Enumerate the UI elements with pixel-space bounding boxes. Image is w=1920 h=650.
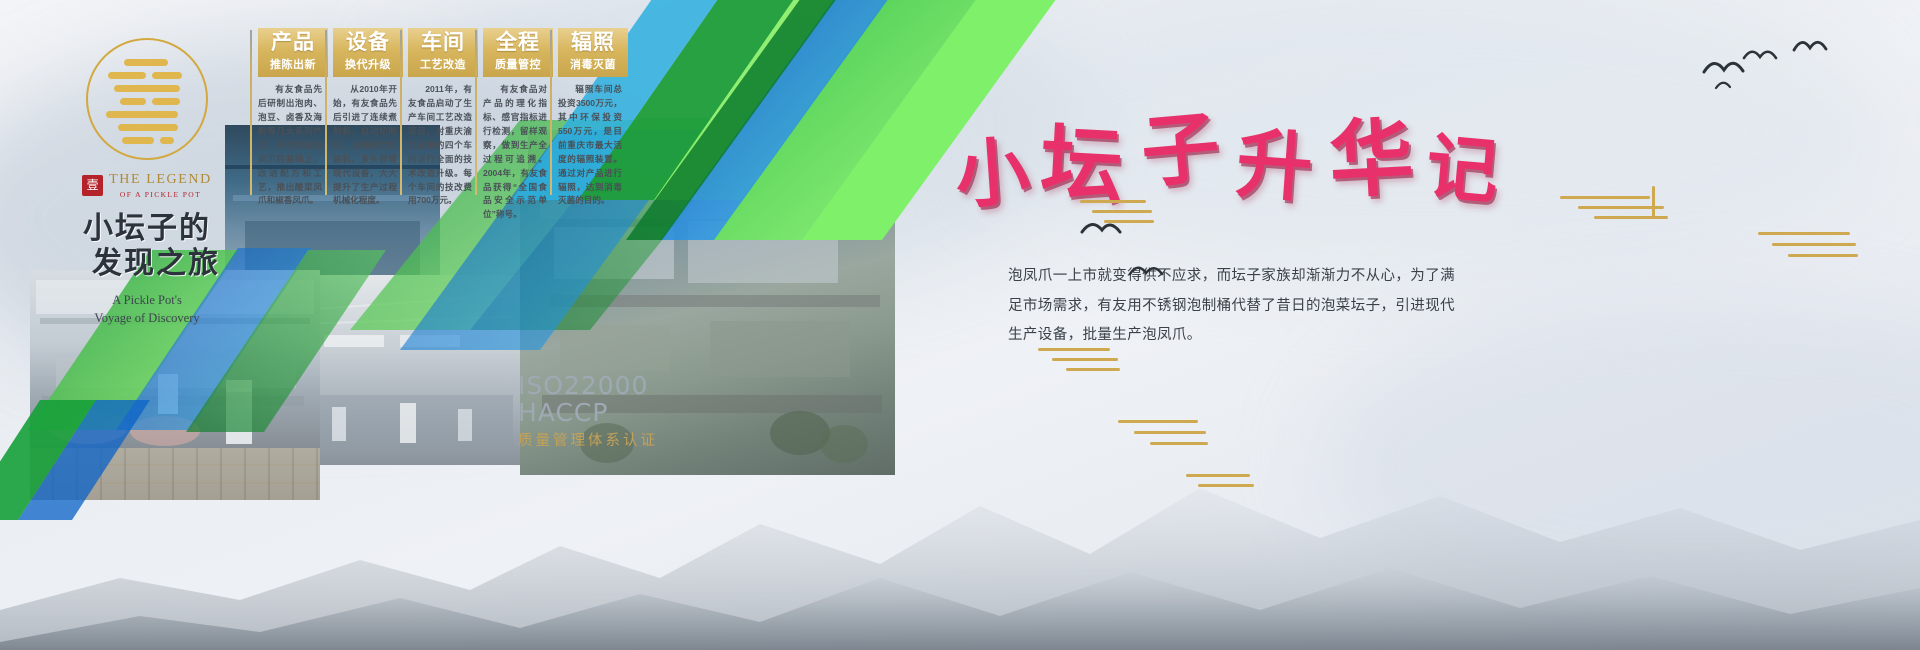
card-heading: 全程 bbox=[486, 32, 550, 54]
poster-canvas: 产品 推陈出新 有友食品先后研制出泡肉、泡豆、卤香及海鲜等几大系列产品，并在原有… bbox=[0, 0, 1920, 650]
card-header: 车间 工艺改造 bbox=[408, 28, 478, 77]
headline-char-4: 升 bbox=[1233, 101, 1316, 216]
pickle-pot-seal-icon bbox=[86, 38, 208, 160]
card-subheading: 工艺改造 bbox=[411, 56, 475, 72]
brand-cn-title: 小坛子的 发现之旅 bbox=[52, 211, 242, 282]
body-paragraph: 泡凤爪一上市就变得供不应求，而坛子家族却渐渐力不从心，为了满足市场需求，有友用不… bbox=[1008, 262, 1464, 351]
brand-en-subtitle-line1: A Pickle Pot's bbox=[52, 291, 242, 309]
card-header: 全程 质量管控 bbox=[483, 28, 553, 77]
card-divider-rule bbox=[550, 30, 552, 195]
info-card-product[interactable]: 产品 推陈出新 有友食品先后研制出泡肉、泡豆、卤香及海鲜等几大系列产品，并在原有… bbox=[258, 28, 328, 222]
info-card-equipment[interactable]: 设备 换代升级 从2010年开始，有友食品先后引进了连续煮制机、自动切制机、自动… bbox=[333, 28, 403, 222]
legend-en-text: THE LEGEND bbox=[109, 172, 212, 188]
card-body-text: 从2010年开始，有友食品先后引进了连续煮制机、自动切制机、自动真空包装机、多头… bbox=[333, 83, 397, 208]
birds-flying-icon bbox=[1080, 210, 1150, 250]
info-card-irradiation[interactable]: 辐照 消毒灭菌 辐照车间总投资3500万元，其中环保投资550万元，是目前重庆市… bbox=[558, 28, 628, 222]
card-heading: 车间 bbox=[411, 32, 475, 54]
card-body-text: 2011年，有友食品启动了生产车间工艺改造项目，对重庆渝北基地的四个车间进行全面… bbox=[408, 83, 472, 208]
card-header: 产品 推陈出新 bbox=[258, 28, 328, 77]
birds-flying-icon bbox=[1128, 256, 1188, 290]
birds-flying-icon bbox=[1790, 26, 1870, 70]
card-divider-rule bbox=[400, 30, 402, 195]
headline-calligraphy: 小 坛 子 升 华 记 bbox=[955, 88, 1495, 193]
headline-char-6: 记 bbox=[1423, 107, 1504, 218]
card-heading: 辐照 bbox=[561, 32, 625, 54]
red-seal-icon: 壹 bbox=[82, 175, 103, 196]
card-body-text: 有友食品对产品的理化指标、感官指标进行检测，留样观察，做到生产全过程可追溯。20… bbox=[483, 83, 547, 222]
photo-cleanroom-hall bbox=[308, 275, 523, 465]
card-body-text: 辐照车间总投资3500万元，其中环保投资550万元，是目前重庆市最大活度的辐照装… bbox=[558, 83, 622, 208]
card-heading: 产品 bbox=[261, 32, 325, 54]
certification-block: ISO22000 HACCP 质量管理体系认证 bbox=[518, 372, 658, 450]
card-body-text: 有友食品先后研制出泡肉、泡豆、卤香及海鲜等几大系列产品，并在原有泡凤爪的基础上，… bbox=[258, 83, 322, 208]
info-card-workshop[interactable]: 车间 工艺改造 2011年，有友食品启动了生产车间工艺改造项目，对重庆渝北基地的… bbox=[408, 28, 478, 222]
card-divider-rule bbox=[250, 30, 252, 195]
brand-cn-title-line1: 小坛子的 bbox=[52, 211, 242, 246]
certification-label: 质量管理体系认证 bbox=[518, 429, 658, 450]
brand-cn-title-line2: 发现之旅 bbox=[70, 246, 242, 281]
brand-en-subtitle-line2: Voyage of Discovery bbox=[52, 309, 242, 327]
card-header: 辐照 消毒灭菌 bbox=[558, 28, 628, 77]
card-subheading: 换代升级 bbox=[336, 56, 400, 72]
headline-char-5: 华 bbox=[1326, 90, 1416, 215]
card-subheading: 推陈出新 bbox=[261, 56, 325, 72]
card-divider-rule bbox=[475, 30, 477, 195]
card-heading: 设备 bbox=[336, 32, 400, 54]
card-divider-rule bbox=[325, 30, 327, 195]
legend-lockup: 壹 THE LEGEND OF A PICKLE POT bbox=[52, 172, 242, 199]
iso-standard-line2: HACCP bbox=[518, 399, 658, 426]
info-card-row: 产品 推陈出新 有友食品先后研制出泡肉、泡豆、卤香及海鲜等几大系列产品，并在原有… bbox=[258, 28, 633, 222]
brand-block: 壹 THE LEGEND OF A PICKLE POT 小坛子的 发现之旅 A… bbox=[52, 38, 242, 327]
card-header: 设备 换代升级 bbox=[333, 28, 403, 77]
brand-en-subtitle: A Pickle Pot's Voyage of Discovery bbox=[52, 291, 242, 327]
card-subheading: 质量管控 bbox=[486, 56, 550, 72]
info-card-quality[interactable]: 全程 质量管控 有友食品对产品的理化指标、感官指标进行检测，留样观察，做到生产全… bbox=[483, 28, 553, 222]
iso-standard-line1: ISO22000 bbox=[518, 372, 658, 399]
legend-sub-text: OF A PICKLE POT bbox=[109, 190, 212, 199]
headline-char-3: 子 bbox=[1136, 85, 1223, 203]
headline-char-1: 小 bbox=[951, 112, 1032, 224]
card-subheading: 消毒灭菌 bbox=[561, 56, 625, 72]
birds-flying-icon bbox=[1700, 42, 1790, 92]
